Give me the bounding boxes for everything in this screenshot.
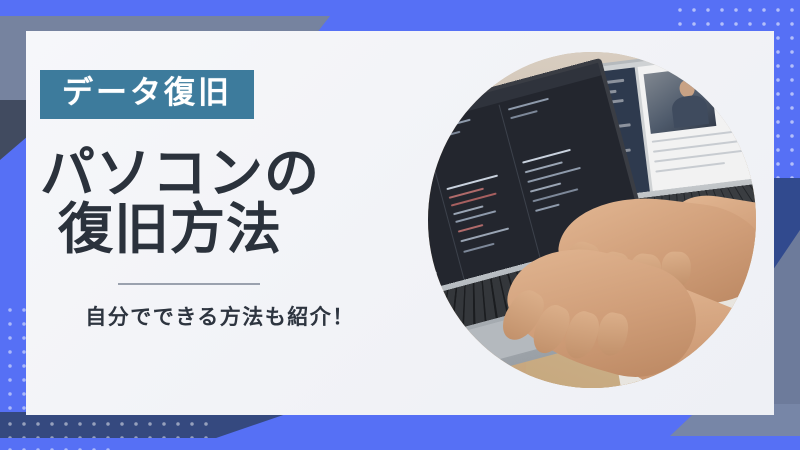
page-title-line-1: パソコンの xyxy=(40,145,390,201)
photo-back-laptop-article-image xyxy=(644,66,717,133)
divider xyxy=(118,283,260,285)
page-title: パソコンの 復旧方法 xyxy=(40,145,390,257)
page-title-line-2: 復旧方法 xyxy=(58,201,390,257)
category-badge: データ復旧 xyxy=(40,70,254,119)
hero-photo xyxy=(428,52,756,388)
hero-photo-illustration xyxy=(428,52,756,388)
thumbnail-banner: データ復旧 パソコンの 復旧方法 自分でできる方法も紹介！ xyxy=(0,0,800,450)
dot-grid-icon-bottom-band xyxy=(0,412,210,438)
subtitle: 自分でできる方法も紹介！ xyxy=(40,301,390,331)
text-column: データ復旧 パソコンの 復旧方法 自分でできる方法も紹介！ xyxy=(40,70,390,331)
photo-back-laptop-article xyxy=(638,54,756,191)
